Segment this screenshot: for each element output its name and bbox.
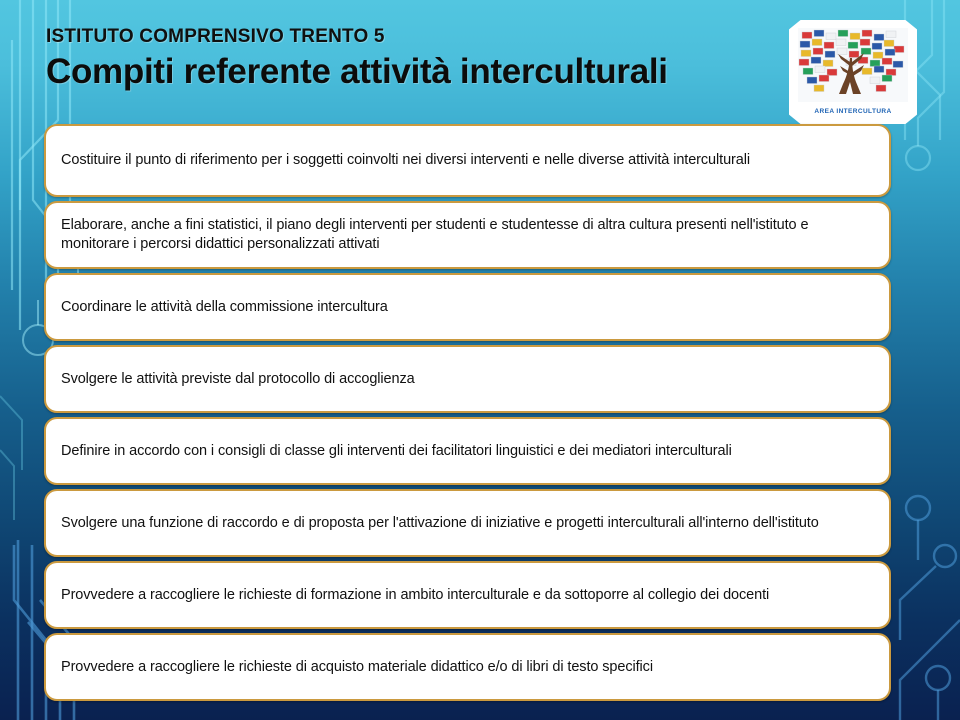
task-text: Elaborare, anche a fini statistici, il p… xyxy=(61,216,875,253)
task-item[interactable]: Provvedere a raccogliere le richieste di… xyxy=(44,633,891,701)
area-intercultura-logo: AREA INTERCULTURA xyxy=(789,20,917,124)
task-text: Costituire il punto di riferimento per i… xyxy=(61,151,750,170)
slide-title: Compiti referente attività intercultural… xyxy=(46,52,776,91)
flag-tree-graphic xyxy=(798,28,908,102)
task-text: Provvedere a raccogliere le richieste di… xyxy=(61,586,769,605)
task-text: Svolgere le attività previste dal protoc… xyxy=(61,370,415,389)
task-item[interactable]: Svolgere le attività previste dal protoc… xyxy=(44,345,891,413)
task-text: Coordinare le attività della commissione… xyxy=(61,298,388,317)
task-item[interactable]: Costituire il punto di riferimento per i… xyxy=(44,124,891,197)
task-item[interactable]: Coordinare le attività della commissione… xyxy=(44,273,891,341)
slide-header: ISTITUTO COMPRENSIVO TRENTO 5 Compiti re… xyxy=(46,26,776,91)
logo-caption: AREA INTERCULTURA xyxy=(789,108,917,115)
slide: ISTITUTO COMPRENSIVO TRENTO 5 Compiti re… xyxy=(0,0,960,720)
task-text: Definire in accordo con i consigli di cl… xyxy=(61,442,732,461)
task-item[interactable]: Provvedere a raccogliere le richieste di… xyxy=(44,561,891,629)
task-item[interactable]: Svolgere una funzione di raccordo e di p… xyxy=(44,489,891,557)
institute-name: ISTITUTO COMPRENSIVO TRENTO 5 xyxy=(46,26,776,48)
task-text: Svolgere una funzione di raccordo e di p… xyxy=(61,514,819,533)
task-item[interactable]: Elaborare, anche a fini statistici, il p… xyxy=(44,201,891,269)
task-list: Costituire il punto di riferimento per i… xyxy=(44,124,891,705)
task-text: Provvedere a raccogliere le richieste di… xyxy=(61,658,653,677)
task-item[interactable]: Definire in accordo con i consigli di cl… xyxy=(44,417,891,485)
